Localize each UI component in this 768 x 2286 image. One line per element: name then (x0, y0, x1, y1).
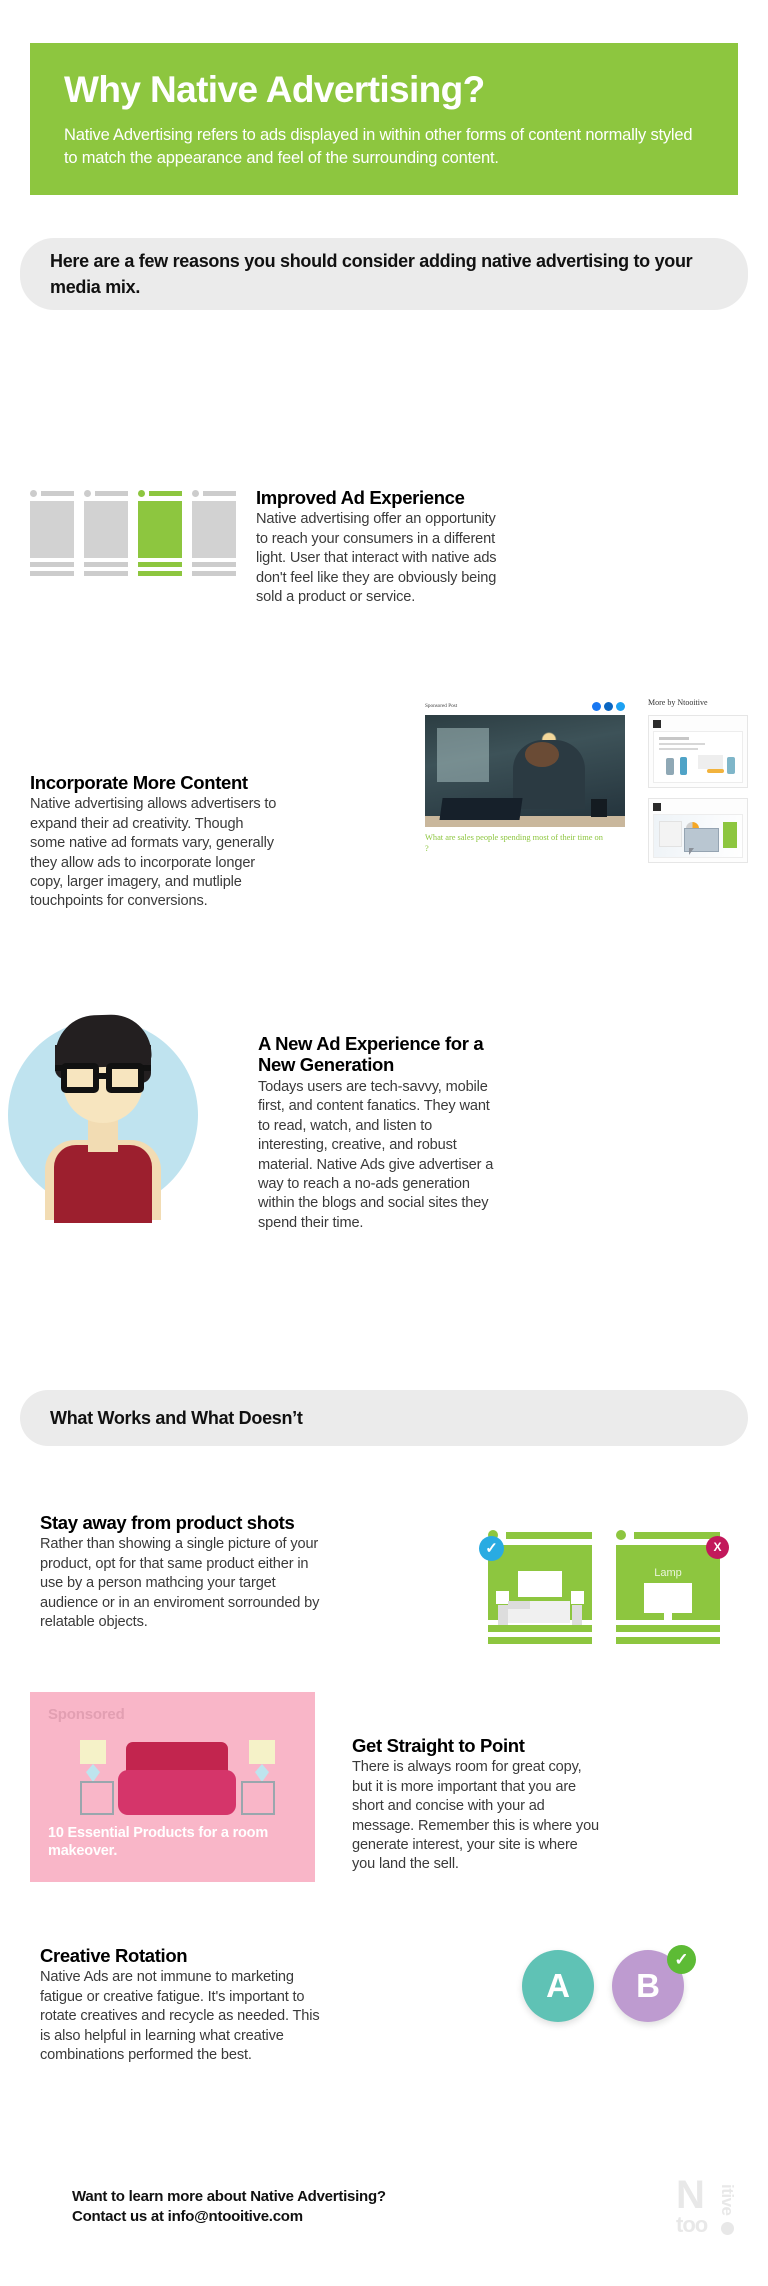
logo-text-too: too (676, 2212, 707, 2238)
pink-ad-caption: 10 Essential Products for a room makeove… (48, 1824, 315, 1860)
pink-sponsored-ad-card: Sponsored 10 Essential Products for a ro… (30, 1692, 315, 1882)
post-caption: What are sales people spending most of t… (425, 832, 607, 854)
avatar-hair (54, 1013, 152, 1068)
section-heading: Improved Ad Experience (256, 487, 501, 508)
chart-thumbnail-icon (659, 821, 682, 847)
lamp-shade-right (249, 1740, 275, 1764)
column-card-1 (30, 488, 74, 580)
photo-window (437, 728, 489, 782)
header-bar (506, 1532, 592, 1539)
lamp-shade (644, 1583, 692, 1613)
side-table-left (80, 1781, 114, 1815)
avatar-illustration (8, 985, 208, 1185)
text-line (138, 571, 182, 576)
photo-person-head (525, 742, 559, 767)
section-body: Native Ads are not immune to marketing f… (40, 1968, 330, 2065)
lamp-product-art (640, 1583, 696, 1631)
bullet-dot-icon (30, 490, 37, 497)
preview-title-line (659, 737, 689, 740)
bullet-dot-icon (138, 490, 145, 497)
logo-letter-n: N (676, 2178, 705, 2212)
room-scene-art (496, 1571, 584, 1627)
text-line (30, 562, 74, 567)
section-incorporate-more-content: Incorporate More Content Native advertis… (30, 772, 280, 912)
column-card-3-native-ad (138, 488, 182, 580)
ab-test-icon: A B ✓ (522, 1950, 732, 2060)
lamp-stem-left (86, 1764, 100, 1782)
card-body (30, 501, 74, 558)
section-heading: Incorporate More Content (30, 772, 280, 793)
preview-figure (698, 755, 723, 769)
sidebar-title: More by Ntooitive (648, 698, 748, 707)
ntooitive-logo-icon (653, 803, 661, 811)
bar-chart-icon (723, 822, 737, 848)
section-heading: Get Straight to Point (352, 1735, 602, 1756)
banner-reasons: Here are a few reasons you should consid… (20, 238, 748, 310)
photo-cup (591, 799, 607, 817)
section-body: Todays users are tech-savvy, mobile firs… (258, 1078, 503, 1233)
linkedin-icon (604, 702, 613, 711)
card-body: Lamp (616, 1545, 720, 1620)
card-preview-image (653, 731, 743, 783)
header-bar (149, 491, 182, 496)
option-a-circle[interactable]: A (522, 1950, 594, 2022)
column-card-2 (84, 488, 128, 580)
text-line (84, 562, 128, 567)
section-body: Native advertising offer an opportunity … (256, 510, 501, 607)
section-improved-ad-experience: Improved Ad Experience Native advertisin… (256, 487, 501, 607)
section-stay-away-product-shots: Stay away from product shots Rather than… (40, 1512, 330, 1632)
preview-line (659, 748, 698, 750)
card-body (488, 1545, 592, 1620)
card-body (192, 501, 236, 558)
check-badge-icon: ✓ (479, 1536, 504, 1561)
wall-picture (518, 1571, 562, 1597)
sofa-seat (118, 1770, 236, 1815)
card-body (84, 501, 128, 558)
header-bar (634, 1532, 720, 1539)
more-by-ntooitive-sidebar: More by Ntooitive (648, 698, 748, 878)
column-card-4 (192, 488, 236, 580)
lamp-stem-right (255, 1764, 269, 1782)
footer-line-1: Want to learn more about Native Advertis… (72, 2187, 386, 2207)
avatar-shirt (54, 1145, 152, 1223)
bullet-dot-icon (616, 1530, 626, 1540)
banner-what-works-text: What Works and What Doesn’t (50, 1405, 303, 1431)
section-new-ad-experience: A New Ad Experience for a New Generation… (258, 1033, 503, 1233)
glasses-lens-left-icon (61, 1063, 99, 1093)
photo-laptop (439, 798, 522, 820)
footer-contact: Want to learn more about Native Advertis… (72, 2187, 386, 2228)
text-line (616, 1625, 720, 1632)
sponsored-label: Sponsored (48, 1706, 297, 1723)
preview-line (659, 743, 705, 745)
hero-banner: Why Native Advertising? Native Advertisi… (30, 43, 738, 195)
sidebar-card-1[interactable] (648, 715, 748, 788)
card-author-row (653, 803, 743, 811)
section-heading: Stay away from product shots (40, 1512, 330, 1533)
twitter-icon (616, 702, 625, 711)
banner-what-works: What Works and What Doesn’t (20, 1390, 748, 1446)
text-line (616, 1637, 720, 1644)
text-line (192, 562, 236, 567)
winner-check-badge-icon: ✓ (667, 1945, 696, 1974)
lamp-shade-left (80, 1740, 106, 1764)
section-get-straight-to-point: Get Straight to Point There is always ro… (352, 1735, 602, 1875)
side-table-left (498, 1605, 508, 1625)
sponsored-post-mockup: Sponsored Post What are sales people spe… (425, 703, 625, 868)
ntooitive-logo-icon (653, 720, 661, 728)
post-photo (425, 715, 625, 827)
section-heading: Creative Rotation (40, 1945, 330, 1966)
sidebar-card-2[interactable] (648, 798, 748, 863)
section-heading: A New Ad Experience for a New Generation (258, 1033, 503, 1076)
section-body: Native advertising allows advertisers to… (30, 795, 280, 911)
living-room-art (80, 1740, 275, 1818)
preview-figure (680, 757, 688, 775)
text-line (488, 1637, 592, 1644)
glasses-bridge (97, 1073, 109, 1079)
preview-figure (666, 758, 674, 775)
cursor-icon (689, 848, 694, 855)
logo-text-itive: itive (717, 2184, 737, 2216)
text-line (488, 1625, 592, 1632)
section-body: There is always room for great copy, but… (352, 1758, 602, 1874)
header-bar (95, 491, 128, 496)
product-shot-comparison-icon: ✓ Lamp X (488, 1530, 720, 1650)
bullet-dot-icon (192, 490, 199, 497)
column-layout-icon (30, 488, 235, 580)
preview-figure (727, 757, 735, 774)
page-title: Why Native Advertising? (64, 71, 704, 108)
text-line (192, 571, 236, 576)
lamp-label: Lamp (616, 1567, 720, 1579)
logo-dot-icon (721, 2222, 734, 2235)
social-share-icons (592, 702, 625, 711)
side-table-right (572, 1605, 582, 1625)
text-line (30, 571, 74, 576)
lamp-right (571, 1591, 584, 1604)
facebook-icon (592, 702, 601, 711)
glasses-lens-right-icon (106, 1063, 144, 1093)
sofa-cushion (508, 1601, 530, 1609)
header-bar (203, 491, 236, 496)
banner-reasons-text: Here are a few reasons you should consid… (50, 248, 718, 300)
side-table-right (241, 1781, 275, 1815)
ntooitive-logo: N itive too (676, 2178, 738, 2238)
footer-line-2: Contact us at info@ntooitive.com (72, 2207, 386, 2227)
hero-subtitle: Native Advertising refers to ads display… (64, 124, 704, 171)
section-creative-rotation: Creative Rotation Native Ads are not imm… (40, 1945, 330, 2065)
bullet-dot-icon (84, 490, 91, 497)
card-author-row (653, 720, 743, 728)
text-line (84, 571, 128, 576)
section-body: Rather than showing a single picture of … (40, 1535, 330, 1632)
text-line (138, 562, 182, 567)
header-bar (41, 491, 74, 496)
card-preview-image (653, 814, 743, 858)
card-body (138, 501, 182, 558)
x-badge-icon: X (706, 1536, 729, 1559)
preview-figure (707, 769, 725, 773)
